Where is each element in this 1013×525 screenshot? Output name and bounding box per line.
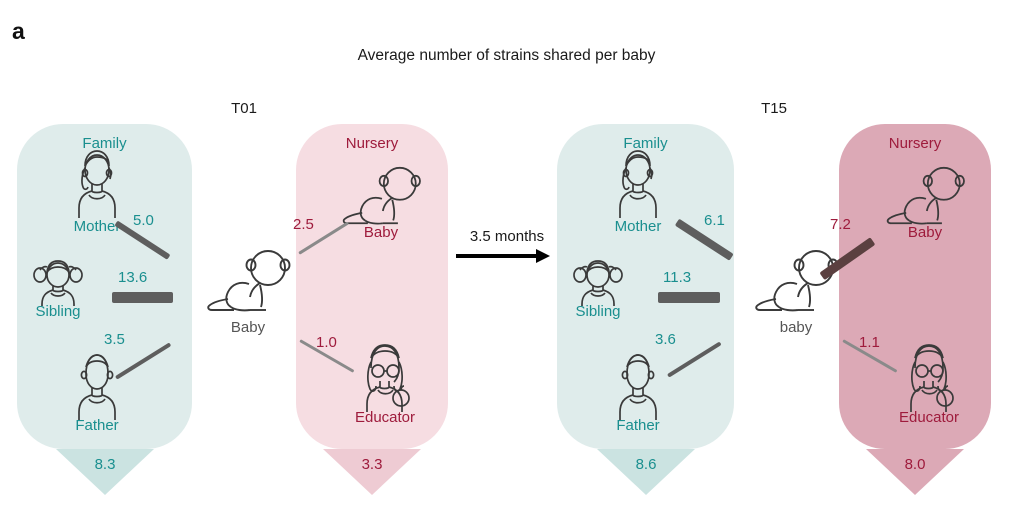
group-total-value-nursery-t01: 3.3 xyxy=(323,456,421,473)
panel-letter: a xyxy=(12,18,25,45)
sibling-icon xyxy=(567,258,629,306)
member-father-t15: Father xyxy=(583,348,693,434)
baby-crawling-icon xyxy=(202,248,294,314)
link-value-nursery-baby-t01: 2.5 xyxy=(293,216,314,233)
member-label-educator-t15: Educator xyxy=(874,410,984,426)
link-sibling-baby-t15 xyxy=(658,292,720,303)
centre-baby-t01: Baby xyxy=(193,248,303,336)
member-label-father-t15: Father xyxy=(583,418,693,434)
figure-panel-a: a Average number of strains shared per b… xyxy=(0,0,1013,525)
father-icon xyxy=(67,348,127,420)
member-sibling-t15: Sibling xyxy=(550,258,646,320)
group-total-value-nursery-t15: 8.0 xyxy=(866,456,964,473)
member-father-t01: Father xyxy=(42,348,152,434)
member-educator-t15: Educator xyxy=(874,340,984,426)
link-value-sibling-t01: 13.6 xyxy=(118,269,147,286)
member-baby-t15: Baby xyxy=(866,165,984,241)
member-label-baby-t15: Baby xyxy=(866,225,984,241)
link-value-sibling-t15: 11.3 xyxy=(663,269,691,286)
father-icon xyxy=(608,348,668,420)
member-label-sibling-t01: Sibling xyxy=(10,304,106,320)
link-value-mother-t01: 5.0 xyxy=(133,212,154,229)
mother-icon xyxy=(608,146,668,221)
transition-label: 3.5 months xyxy=(452,228,562,245)
group-total-value-family-t15: 8.6 xyxy=(597,456,695,473)
group-title-nursery-t01: Nursery xyxy=(296,135,448,152)
member-label-father-t01: Father xyxy=(42,418,152,434)
baby-crawling-icon xyxy=(750,248,842,314)
group-total-value-family-t01: 8.3 xyxy=(56,456,154,473)
link-value-father-t01: 3.5 xyxy=(104,331,125,348)
link-value-mother-t15: 6.1 xyxy=(704,212,725,229)
member-label-educator-t01: Educator xyxy=(330,410,440,426)
arrow-right-icon xyxy=(452,249,562,263)
link-value-nursery-baby-t15: 7.2 xyxy=(830,216,851,233)
figure-title: Average number of strains shared per bab… xyxy=(0,47,1013,65)
mother-icon xyxy=(67,146,127,221)
group-title-nursery-t15: Nursery xyxy=(839,135,991,152)
sibling-icon xyxy=(27,258,89,306)
centre-baby-label-t15: baby xyxy=(740,319,852,336)
timepoint-label-t01: T01 xyxy=(184,100,304,117)
centre-baby-label-t01: Baby xyxy=(193,319,303,336)
member-educator-t01: Educator xyxy=(330,340,440,426)
link-value-father-t15: 3.6 xyxy=(655,331,676,348)
educator-icon xyxy=(896,340,962,412)
transition-arrow-group: 3.5 months xyxy=(452,228,562,263)
member-sibling-t01: Sibling xyxy=(10,258,106,320)
link-value-educator-t15: 1.1 xyxy=(859,334,880,351)
link-sibling-baby-t01 xyxy=(112,292,173,303)
educator-icon xyxy=(352,340,418,412)
baby-icon xyxy=(879,165,971,227)
baby-icon xyxy=(335,165,427,227)
link-value-educator-t01: 1.0 xyxy=(316,334,337,351)
timepoint-label-t15: T15 xyxy=(714,100,834,117)
member-label-sibling-t15: Sibling xyxy=(550,304,646,320)
